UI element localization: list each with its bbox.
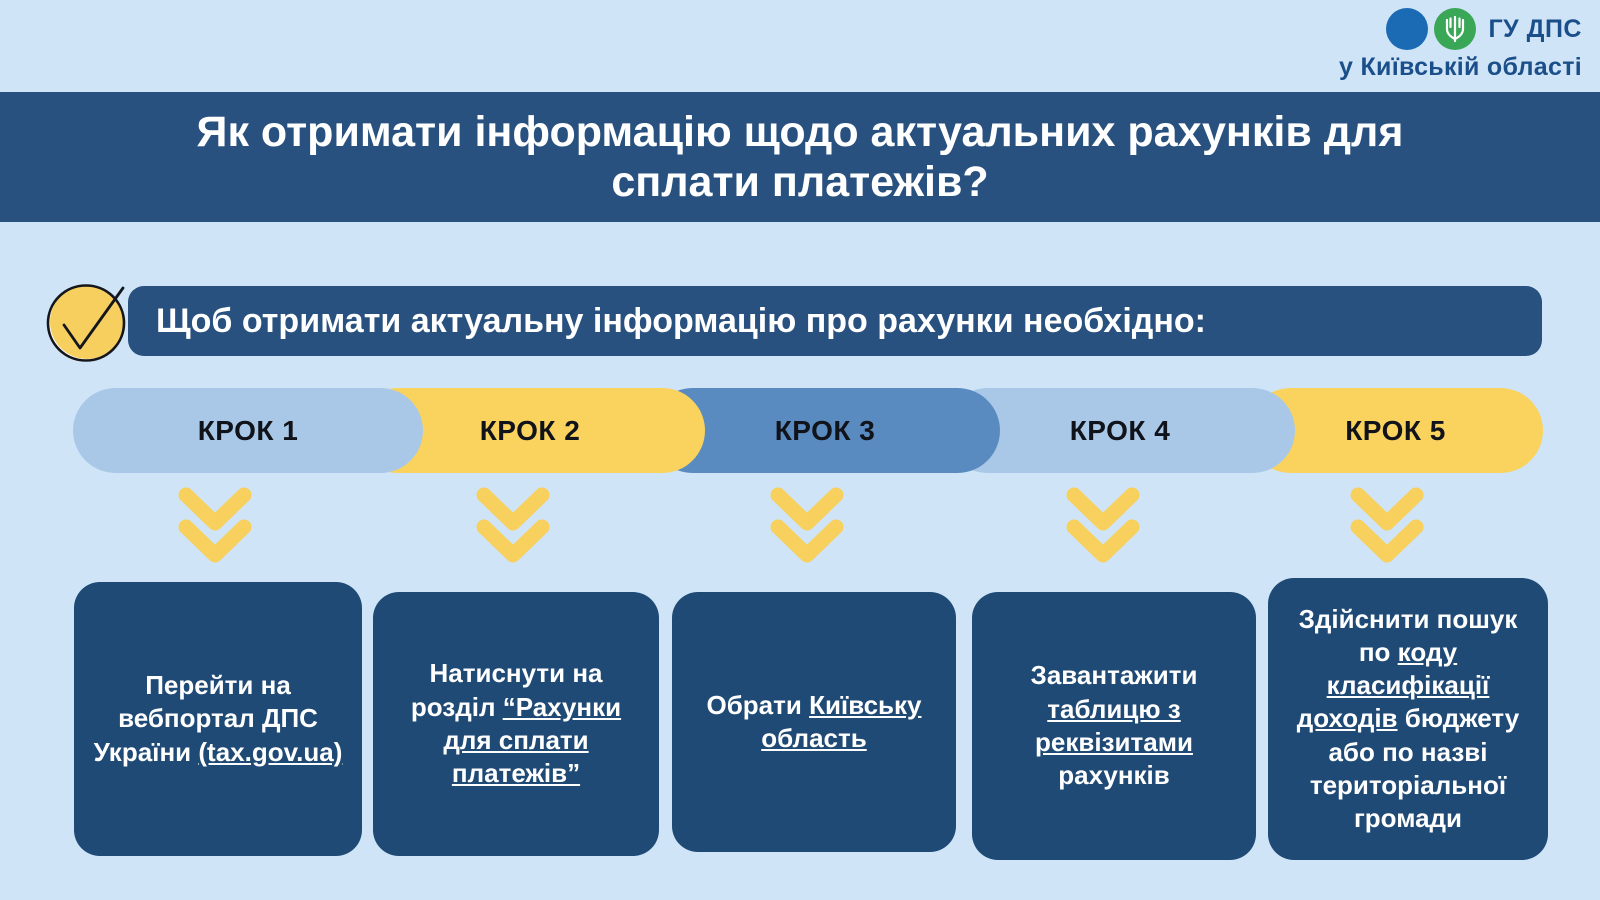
double-chevron-down-icon [176,487,254,563]
step-label-4: КРОК 4 [1070,415,1171,447]
card-step-5[interactable]: Здійснити пошук по коду класифікації дох… [1268,578,1548,860]
step-label-1: КРОК 1 [198,415,299,447]
card-step-3[interactable]: Обрати Київську область [672,592,956,852]
steps-progress-bar: КРОК 1 КРОК 2 КРОК 3 КРОК 4 КРОК 5 [0,388,1600,473]
header-band: Як отримати інформацію щодо актуальних р… [0,92,1600,222]
card-step-2[interactable]: Натиснути на розділ “Рахунки для сплати … [373,592,659,856]
double-chevron-down-icon [1348,487,1426,563]
subtitle-text: Щоб отримати актуальну інформацію про ра… [156,302,1206,341]
double-chevron-down-icon [474,487,552,563]
step-pill-1[interactable]: КРОК 1 [73,388,423,473]
trident-icon [1434,8,1476,50]
page-title: Як отримати інформацію щодо актуальних р… [80,107,1520,208]
logo-line-1: ГУ ДПС [1488,17,1582,42]
subtitle-section: Щоб отримати актуальну інформацію про ра… [0,282,1600,360]
card-step-5-text: Здійснити пошук по коду класифікації дох… [1282,603,1534,836]
subtitle-bar: Щоб отримати актуальну інформацію про ра… [128,286,1542,356]
step-label-3: КРОК 3 [775,415,876,447]
card-step-2-text: Натиснути на розділ “Рахунки для сплати … [387,657,645,790]
double-chevron-down-icon [768,487,846,563]
logo-top-row: ГУ ДПС [1386,8,1582,50]
double-chevron-down-icon [1064,487,1142,563]
organization-logo: ГУ ДПС у Київській області [1339,8,1582,80]
card-step-1-text: Перейти на вебпортал ДПС України (tax.go… [88,669,348,769]
step-label-2: КРОК 2 [480,415,581,447]
card-step-4[interactable]: Завантажити таблицю з реквізитами рахунк… [972,592,1256,860]
card-step-1[interactable]: Перейти на вебпортал ДПС України (tax.go… [74,582,362,856]
check-circle-icon [44,280,130,366]
logo-strip: ГУ ДПС у Київській області [0,0,1600,92]
step-label-5: КРОК 5 [1345,415,1446,447]
card-step-3-text: Обрати Київську область [686,689,942,756]
card-step-4-text: Завантажити таблицю з реквізитами рахунк… [986,659,1242,792]
logo-line-2: у Київській області [1339,55,1582,80]
blue-circle-icon [1386,8,1428,50]
